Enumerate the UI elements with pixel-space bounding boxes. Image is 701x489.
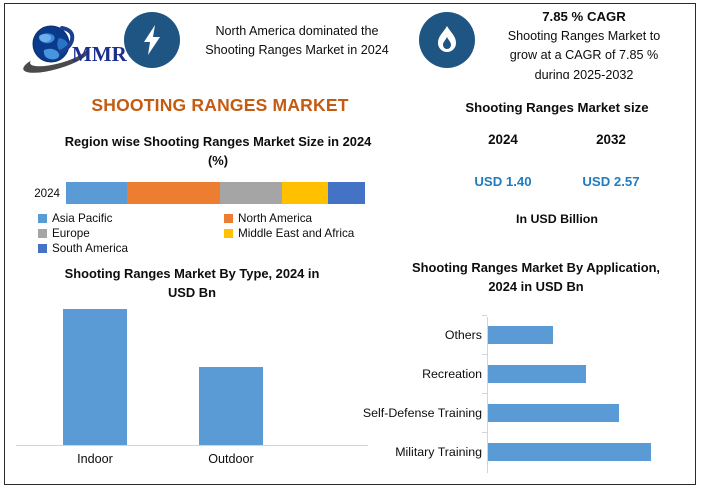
region-legend-item[interactable]: Asia Pacific	[38, 211, 218, 226]
cagr-note: 7.85 % CAGR Shooting Ranges Market to gr…	[478, 7, 690, 85]
application-chart-title: Shooting Ranges Market By Application, 2…	[378, 258, 694, 296]
region-stacked-bar: 2024	[16, 182, 365, 204]
region-category-label: 2024	[16, 187, 66, 200]
region-legend-label: Asia Pacific	[52, 212, 112, 225]
svg-text:MMR: MMR	[72, 42, 128, 66]
type-bar	[199, 367, 263, 445]
region-legend-item[interactable]: Europe	[38, 226, 218, 241]
legend-swatch-icon	[38, 229, 47, 238]
page-title: SHOOTING RANGES MARKET	[20, 95, 420, 116]
region-legend: Asia PacificNorth AmericaEuropeMiddle Ea…	[38, 211, 404, 256]
north-america-note-line2: Shooting Ranges Market in 2024	[186, 41, 408, 60]
application-bar	[488, 404, 619, 422]
application-chart-plot: OthersRecreationSelf-Defense TrainingMil…	[336, 315, 686, 475]
application-row: Others	[336, 315, 686, 354]
region-chart-title-line1: Region wise Shooting Ranges Market Size …	[16, 132, 420, 151]
legend-swatch-icon	[224, 229, 233, 238]
application-axis-tick	[482, 315, 487, 316]
region-segment	[328, 182, 365, 204]
globe-swoosh-logo-graphic: MMR	[18, 14, 130, 76]
application-axis-tick	[482, 354, 487, 355]
application-category-label: Self-Defense Training	[363, 406, 482, 420]
legend-swatch-icon	[38, 244, 47, 253]
market-size-columns: 2024 USD 1.40 2032 USD 2.57	[424, 132, 690, 189]
market-size-value: USD 2.57	[557, 174, 665, 189]
region-segment	[66, 182, 127, 204]
cagr-note-line1: Shooting Ranges Market to	[478, 27, 690, 47]
application-axis-tick	[482, 393, 487, 394]
north-america-note-line1: North America dominated the	[186, 22, 408, 41]
lightning-bolt-icon	[124, 12, 180, 68]
application-chart-title-line1: Shooting Ranges Market By Application,	[378, 258, 694, 277]
application-row: Self-Defense Training	[336, 393, 686, 432]
flame-icon	[419, 12, 475, 68]
region-chart-title: Region wise Shooting Ranges Market Size …	[16, 132, 420, 170]
legend-swatch-icon	[224, 214, 233, 223]
region-legend-label: Europe	[52, 227, 90, 240]
application-category-label: Recreation	[422, 367, 482, 381]
market-size-unit-note: In USD Billion	[424, 212, 690, 226]
mmr-logo[interactable]: MMR	[18, 14, 130, 76]
type-bar	[63, 309, 127, 445]
region-stacked-bar-track	[66, 182, 365, 204]
north-america-note: North America dominated the Shooting Ran…	[186, 22, 408, 60]
flame-glyph	[434, 24, 460, 56]
application-category-label: Military Training	[395, 445, 482, 459]
infographic-canvas: MMR North America dominated the Shooting…	[0, 0, 701, 489]
application-chart-title-line2: 2024 in USD Bn	[378, 277, 694, 296]
market-size-panel: Shooting Ranges Market size 2024 USD 1.4…	[424, 100, 690, 226]
region-legend-item[interactable]: Middle East and Africa	[224, 226, 404, 241]
region-legend-label: North America	[238, 212, 312, 225]
type-chart-plot	[16, 300, 368, 446]
header-clip-band	[420, 79, 692, 95]
type-category-label: Indoor	[45, 452, 145, 466]
region-legend-label: South America	[52, 242, 128, 255]
lightning-bolt-glyph	[137, 23, 167, 57]
application-row: Recreation	[336, 354, 686, 393]
legend-swatch-icon	[38, 214, 47, 223]
application-bar	[488, 443, 651, 461]
type-chart-title: Shooting Ranges Market By Type, 2024 in …	[14, 264, 370, 302]
application-axis-tick	[482, 432, 487, 433]
region-legend-item[interactable]: South America	[38, 241, 218, 256]
cagr-note-line2: grow at a CAGR of 7.85 %	[478, 46, 690, 66]
cagr-headline: 7.85 % CAGR	[478, 7, 690, 27]
market-size-year: 2032	[557, 132, 665, 147]
region-segment	[220, 182, 282, 204]
market-size-value: USD 1.40	[449, 174, 557, 189]
type-chart-axis	[16, 445, 368, 446]
application-category-label: Others	[445, 328, 482, 342]
type-chart-title-line1: Shooting Ranges Market By Type, 2024 in	[14, 264, 370, 283]
type-chart-category-labels: IndoorOutdoor	[16, 452, 368, 472]
region-legend-item[interactable]: North America	[224, 211, 404, 226]
market-size-column-2032: 2032 USD 2.57	[557, 132, 665, 189]
market-size-title: Shooting Ranges Market size	[424, 100, 690, 115]
market-size-year: 2024	[449, 132, 557, 147]
type-category-label: Outdoor	[181, 452, 281, 466]
market-size-column-2024: 2024 USD 1.40	[449, 132, 557, 189]
application-row: Military Training	[336, 432, 686, 471]
application-bar	[488, 326, 553, 344]
region-chart-title-line2: (%)	[16, 151, 420, 170]
application-bar	[488, 365, 586, 383]
region-segment	[282, 182, 328, 204]
region-legend-label: Middle East and Africa	[238, 227, 354, 240]
region-segment	[127, 182, 220, 204]
